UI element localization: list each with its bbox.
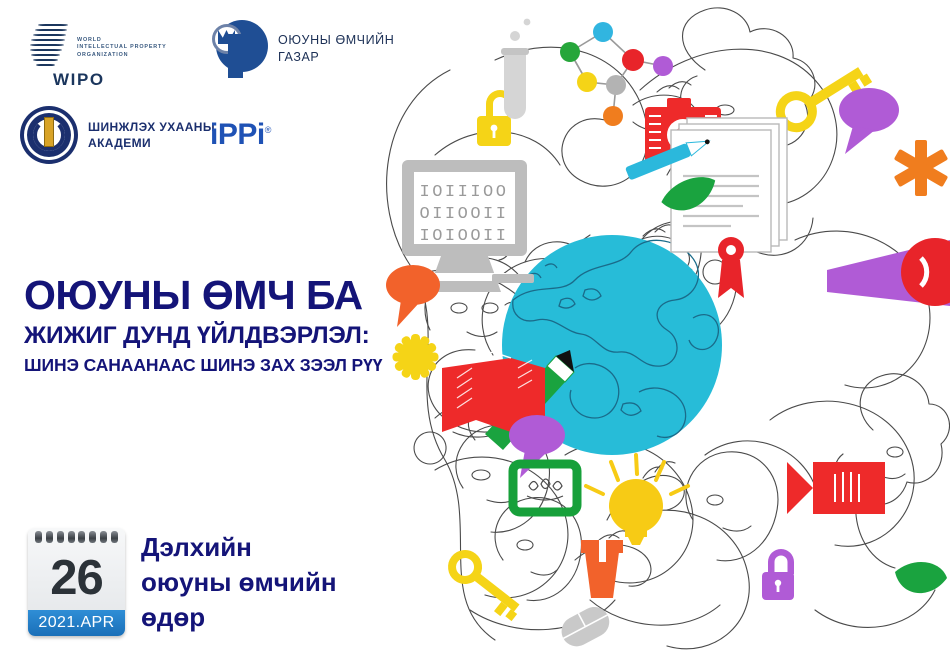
wipo-stripes-icon <box>28 22 68 74</box>
illustration-svg: IOIIIOO OIIOOII IOIOOII <box>375 0 950 671</box>
logo-ippi: iPPi® <box>210 115 271 150</box>
purple-megaphone-icon <box>827 238 950 306</box>
academy-label: ШИНЖЛЭХ УХААНЫ АКАДЕМИ <box>88 119 215 151</box>
logo-bar: WORLD INTELLECTUAL PROPERTY ORGANIZATION… <box>0 0 400 185</box>
orange-cup-icon <box>581 540 623 598</box>
academy-seal-icon <box>20 106 78 164</box>
ippi-wordmark: iPPi® <box>210 115 271 150</box>
academy-label-line-1: ШИНЖЛЭХ УХААНЫ <box>88 119 215 135</box>
wipo-wordmark: WIPO <box>53 70 105 90</box>
yellow-star-icon <box>393 334 439 380</box>
red-seal-icon <box>718 237 744 298</box>
ipo-mongolia-icon <box>208 18 268 80</box>
headline-line-3: ШИНЭ САНААНААС ШИНЭ ЗАХ ЗЭЭЛ РҮҮ <box>24 353 404 377</box>
svg-text:IOIIIOO: IOIIIOO <box>420 183 509 202</box>
purple-speech-bubble-icon <box>839 88 899 154</box>
headline-line-2: ЖИЖИГ ДУНД ҮЙЛДВЭРЛЭЛ: <box>24 320 404 351</box>
red-play-card-icon <box>787 462 885 514</box>
date-caption-line-2: оюуны өмчийн <box>141 565 337 600</box>
headline-line-1: ОЮУНЫ ӨМЧ БА <box>24 272 404 318</box>
logo-ipo-mongolia: ОЮУНЫ ӨМЧИЙН ГАЗАР <box>208 18 394 80</box>
calendar-month-band: 2021.APR <box>28 610 125 636</box>
wipo-tagline: WORLD INTELLECTUAL PROPERTY ORGANIZATION <box>77 37 167 60</box>
calendar-day: 26 <box>28 544 125 612</box>
test-tube-icon <box>501 19 530 119</box>
orange-speech-bubble-icon <box>386 265 440 327</box>
purple-padlock-icon <box>762 549 794 600</box>
wipo-tagline-line-2: INTELLECTUAL PROPERTY <box>77 44 167 52</box>
logo-wipo: WORLD INTELLECTUAL PROPERTY ORGANIZATION… <box>28 22 167 74</box>
orange-asterisk-icon <box>894 140 948 196</box>
date-block: 26 2021.APR Дэлхийн оюуны өмчийн өдөр <box>28 528 337 636</box>
poster-canvas: WORLD INTELLECTUAL PROPERTY ORGANIZATION… <box>0 0 950 671</box>
svg-text:OIIOOII: OIIOOII <box>420 205 509 224</box>
wipo-tagline-line-1: WORLD <box>77 37 167 45</box>
date-caption-line-1: Дэлхийн <box>141 530 337 565</box>
yellow-key-lower-icon <box>444 549 528 624</box>
svg-text:IOIOOII: IOIOOII <box>420 227 509 246</box>
calendar-icon: 26 2021.APR <box>28 528 125 636</box>
date-caption-line-3: өдөр <box>141 600 337 635</box>
headline: ОЮУНЫ ӨМЧ БА ЖИЖИГ ДУНД ҮЙЛДВЭРЛЭЛ: ШИНЭ… <box>24 272 404 377</box>
wipo-tagline-line-3: ORGANIZATION <box>77 52 167 60</box>
date-caption: Дэлхийн оюуны өмчийн өдөр <box>141 528 337 635</box>
registered-icon: ® <box>265 125 271 135</box>
logo-science-academy: ШИНЖЛЭХ УХААНЫ АКАДЕМИ <box>20 106 215 164</box>
green-leaf-lower-icon <box>895 562 947 593</box>
ippi-wordmark-text: iPPi <box>210 118 265 151</box>
illustration-artwork: IOIIIOO OIIOOII IOIOOII <box>375 0 950 671</box>
academy-label-line-2: АКАДЕМИ <box>88 135 215 151</box>
calendar-rings <box>28 531 125 544</box>
